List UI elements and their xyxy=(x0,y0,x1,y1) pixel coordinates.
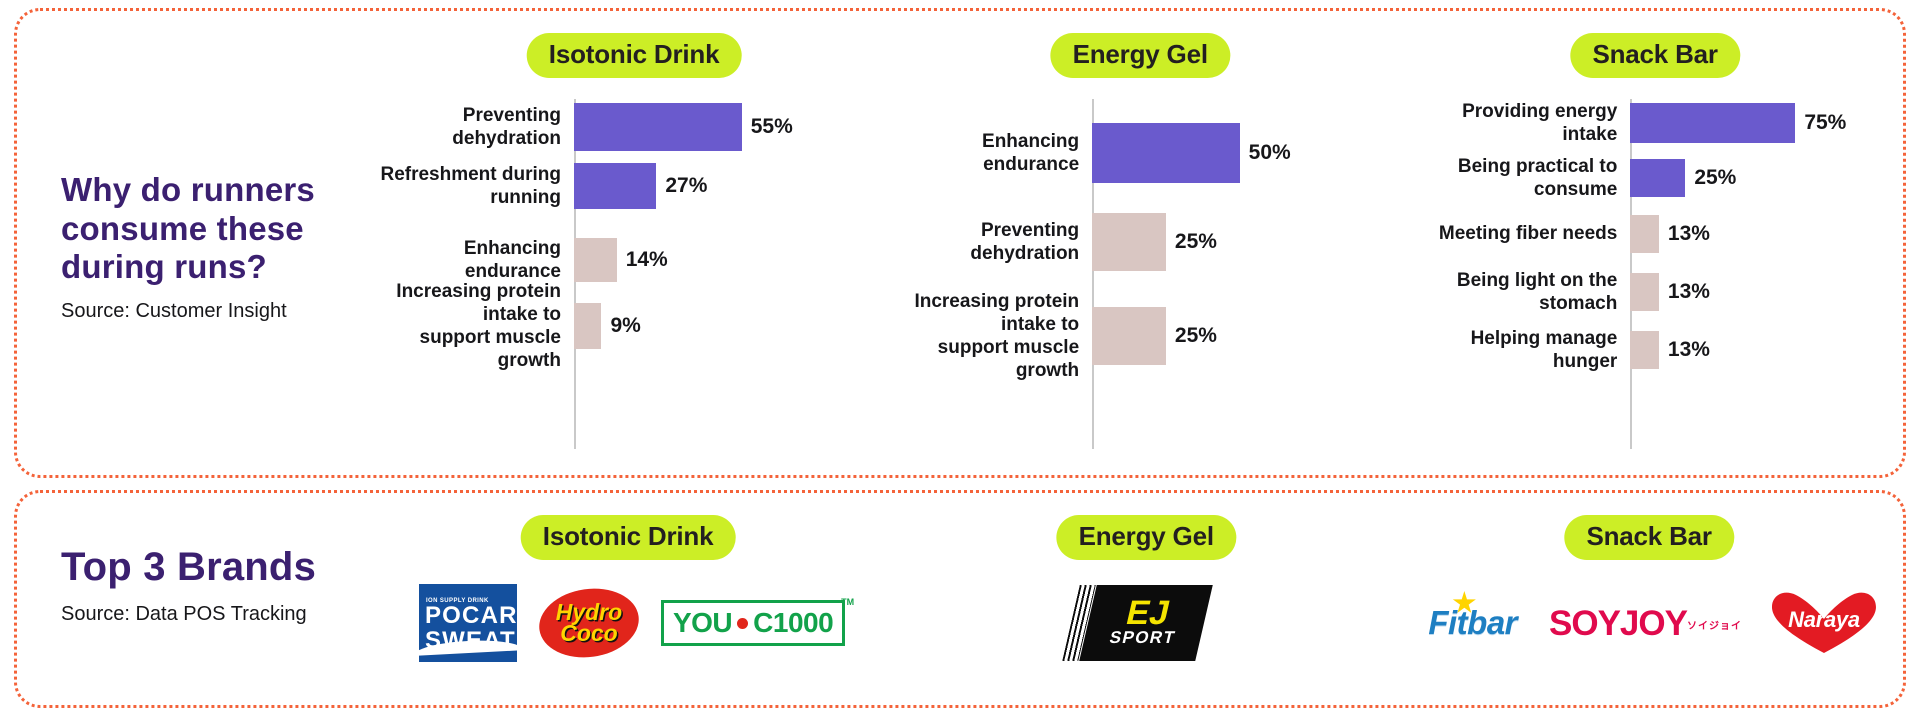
bar-value-label: 13% xyxy=(1668,338,1710,362)
insight-headline: Why do runners consume these during runs… xyxy=(61,171,381,287)
bar-track: 9% xyxy=(574,303,887,349)
soyjoy-japanese-text: ソイジョイ xyxy=(1687,617,1742,632)
bar-category-label: Increasing protein intake to support mus… xyxy=(887,290,1092,383)
bar xyxy=(1092,307,1166,365)
bar-value-label: 55% xyxy=(751,115,793,139)
bar-row: Providing energy intake75% xyxy=(1405,101,1893,145)
bar-track: 50% xyxy=(1092,123,1405,183)
bar-row: Refreshment during running27% xyxy=(369,161,887,211)
bar xyxy=(574,303,601,349)
logo-strip: Fitbar SOYJOY ソイジョイ Naraya xyxy=(1409,577,1893,669)
bar xyxy=(1630,273,1659,311)
ej-sport-logo: EJ SPORT xyxy=(1079,585,1213,661)
chart-isotonic-drink: Isotonic Drink Preventing dehydration55%… xyxy=(369,33,887,463)
bar-category-label: Enhancing endurance xyxy=(369,237,574,283)
bar-track: 14% xyxy=(574,238,887,282)
ej-line1: EJ xyxy=(1124,598,1174,629)
bar-row: Enhancing endurance50% xyxy=(887,121,1405,185)
infographic-page: Why do runners consume these during runs… xyxy=(0,0,1920,724)
brands-row: Isotonic Drink ION SUPPLY DRINK POCARI S… xyxy=(369,515,1893,691)
brand-title-pill: Isotonic Drink xyxy=(521,515,736,560)
brands-source: Source: Data POS Tracking xyxy=(61,603,381,626)
insight-panel: Why do runners consume these during runs… xyxy=(14,8,1906,478)
bar-value-label: 14% xyxy=(626,248,668,272)
bar-value-label: 25% xyxy=(1694,166,1736,190)
bar-category-label: Enhancing endurance xyxy=(887,130,1092,176)
chart-title-pill: Isotonic Drink xyxy=(527,33,742,78)
bar-track: 13% xyxy=(1630,273,1893,311)
bar-track: 27% xyxy=(574,163,887,209)
bar-track: 25% xyxy=(1630,159,1893,197)
logo-strip: ION SUPPLY DRINK POCARI SWEAT Hydro Coco xyxy=(377,577,887,669)
chart-snack-bar: Snack Bar Providing energy intake75%Bein… xyxy=(1405,33,1893,463)
soyjoy-text: SOYJOY xyxy=(1549,606,1687,641)
bar-value-label: 25% xyxy=(1175,230,1217,254)
logo-strip: EJ SPORT xyxy=(887,577,1405,669)
bar-track: 75% xyxy=(1630,103,1893,143)
bar-value-label: 13% xyxy=(1668,280,1710,304)
bar xyxy=(1092,213,1166,271)
bar-value-label: 75% xyxy=(1804,111,1846,135)
brands-headline: Top 3 Brands xyxy=(61,545,381,589)
bar-value-label: 25% xyxy=(1175,324,1217,348)
pocari-line1: POCARI xyxy=(425,604,517,628)
chart-title-pill: Energy Gel xyxy=(1051,33,1230,78)
naraya-logo: Naraya xyxy=(1772,591,1876,655)
insight-left-block: Why do runners consume these during runs… xyxy=(61,171,381,323)
bar-row: Being practical to consume25% xyxy=(1405,157,1893,199)
bar-category-label: Helping manage hunger xyxy=(1405,327,1630,373)
bar-track: 13% xyxy=(1630,331,1893,369)
insight-source: Source: Customer Insight xyxy=(61,300,381,323)
bar-category-label: Being practical to consume xyxy=(1405,155,1630,201)
brands-left-block: Top 3 Brands Source: Data POS Tracking xyxy=(61,545,381,626)
bar xyxy=(1630,215,1659,253)
pocari-sweat-logo: ION SUPPLY DRINK POCARI SWEAT xyxy=(419,584,517,662)
bar-category-label: Meeting fiber needs xyxy=(1405,222,1630,245)
bar-value-label: 13% xyxy=(1668,222,1710,246)
youc-dot-icon xyxy=(737,618,748,629)
hydro-line2: Coco xyxy=(556,623,622,644)
bar-track: 13% xyxy=(1630,215,1893,253)
ej-streaks-icon xyxy=(1062,585,1096,661)
bar-rows: Enhancing endurance50%Preventing dehydra… xyxy=(887,99,1405,449)
brand-group-snack-bar: Snack Bar Fitbar SOYJOY ソイジョイ Naraya xyxy=(1405,515,1893,691)
plot-area: Providing energy intake75%Being practica… xyxy=(1405,89,1893,455)
bar-row: Being light on the stomach13% xyxy=(1405,271,1893,313)
bar-category-label: Providing energy intake xyxy=(1405,100,1630,146)
bar-value-label: 50% xyxy=(1249,141,1291,165)
bar xyxy=(1630,159,1685,197)
brands-panel: Top 3 Brands Source: Data POS Tracking I… xyxy=(14,490,1906,708)
brand-group-energy-gel: Energy Gel EJ SPORT xyxy=(887,515,1405,691)
brand-title-pill: Energy Gel xyxy=(1057,515,1236,560)
bar-row: Enhancing endurance14% xyxy=(369,236,887,284)
hydro-coco-logo: Hydro Coco xyxy=(539,583,639,663)
bar xyxy=(1092,123,1240,183)
bar-row: Preventing dehydration55% xyxy=(369,101,887,153)
bar xyxy=(1630,331,1659,369)
insight-charts-row: Isotonic Drink Preventing dehydration55%… xyxy=(369,33,1893,463)
youc-trademark: TM xyxy=(841,597,854,607)
plot-area: Preventing dehydration55%Refreshment dur… xyxy=(369,89,887,455)
youc-part1: YOU xyxy=(673,607,732,639)
brand-title-pill: Snack Bar xyxy=(1564,515,1733,560)
soyjoy-logo: SOYJOY ソイジョイ xyxy=(1549,606,1742,641)
fitbar-logo: Fitbar xyxy=(1426,600,1519,646)
bar xyxy=(574,238,617,282)
bar-category-label: Increasing protein intake to support mus… xyxy=(369,280,574,373)
bar-category-label: Preventing dehydration xyxy=(369,104,574,150)
plot-area: Enhancing endurance50%Preventing dehydra… xyxy=(887,89,1405,455)
naraya-text: Naraya xyxy=(1788,607,1860,633)
bar-row: Increasing protein intake to support mus… xyxy=(369,299,887,353)
hydro-text: Hydro Coco xyxy=(556,602,622,644)
brand-group-isotonic-drink: Isotonic Drink ION SUPPLY DRINK POCARI S… xyxy=(369,515,887,691)
fitbar-text: Fitbar xyxy=(1428,604,1517,642)
bar-rows: Providing energy intake75%Being practica… xyxy=(1405,99,1893,449)
bar-category-label: Preventing dehydration xyxy=(887,219,1092,265)
chart-title-pill: Snack Bar xyxy=(1570,33,1739,78)
bar-track: 25% xyxy=(1092,213,1405,271)
bar-row: Preventing dehydration25% xyxy=(887,211,1405,273)
you-c1000-logo: YOU C1000 TM xyxy=(661,600,845,646)
youc-part2: C1000 xyxy=(753,607,833,639)
bar-row: Increasing protein intake to support mus… xyxy=(887,305,1405,367)
bar-category-label: Refreshment during running xyxy=(369,163,574,209)
bar xyxy=(574,163,656,209)
bar-category-label: Being light on the stomach xyxy=(1405,269,1630,315)
bar-rows: Preventing dehydration55%Refreshment dur… xyxy=(369,99,887,449)
bar-value-label: 9% xyxy=(610,314,640,338)
bar-row: Helping manage hunger13% xyxy=(1405,329,1893,371)
bar xyxy=(1630,103,1795,143)
bar-track: 25% xyxy=(1092,307,1405,365)
bar-value-label: 27% xyxy=(665,174,707,198)
bar-row: Meeting fiber needs13% xyxy=(1405,213,1893,255)
bar xyxy=(574,103,742,151)
chart-energy-gel: Energy Gel Enhancing endurance50%Prevent… xyxy=(887,33,1405,463)
bar-track: 55% xyxy=(574,103,887,151)
